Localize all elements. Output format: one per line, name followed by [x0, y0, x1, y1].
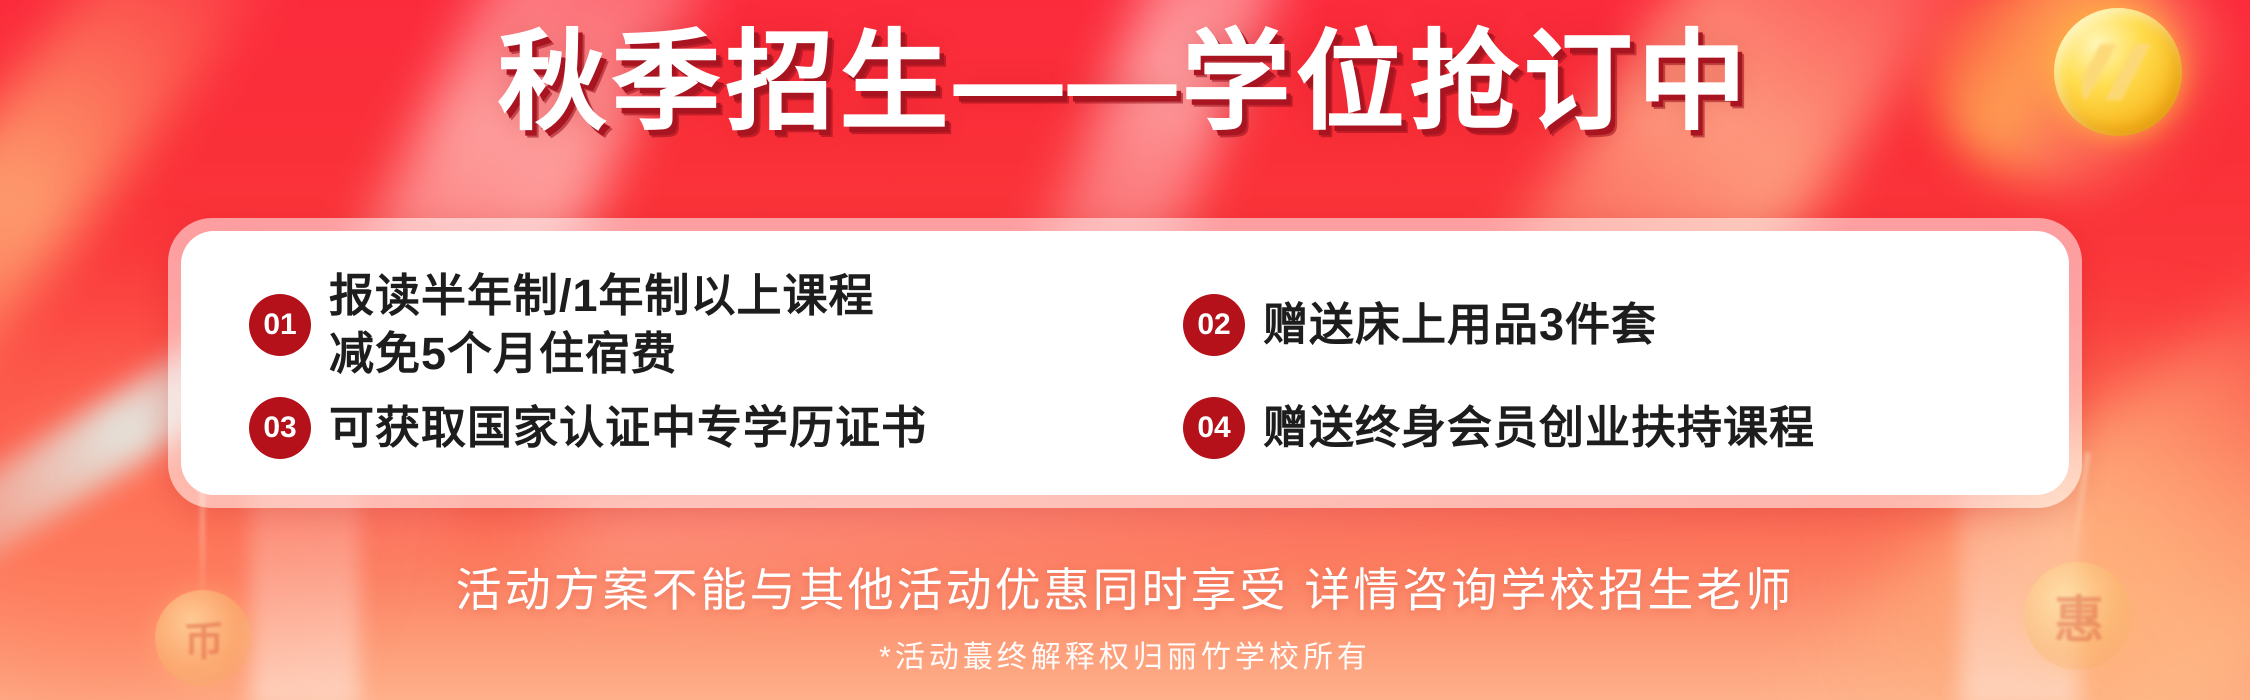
- benefit-badge-01: 01: [249, 294, 311, 356]
- benefit-item-02: 02 赠送床上用品3件套: [1125, 294, 2031, 356]
- benefits-row-bottom: 03 可获取国家认证中专学历证书 04 赠送终身会员创业扶持课程: [219, 397, 2031, 459]
- benefits-card: 01 报读半年制/1年制以上课程 减免5个月住宿费 02 赠送床上用品3件套 0…: [168, 218, 2082, 508]
- benefit-badge-02: 02: [1183, 294, 1245, 356]
- benefit-text-04: 赠送终身会员创业扶持课程: [1263, 399, 1815, 457]
- page-title: 秋季招生——学位抢订中: [0, 18, 2250, 145]
- footer-fine-print: *活动蕞终解释权归丽竹学校所有: [0, 632, 2250, 676]
- benefit-text-01: 报读半年制/1年制以上课程 减免5个月住宿费: [329, 267, 875, 382]
- benefits-row-top: 01 报读半年制/1年制以上课程 减免5个月住宿费 02 赠送床上用品3件套: [219, 267, 2031, 382]
- benefit-badge-04: 04: [1183, 397, 1245, 459]
- benefit-text-02: 赠送床上用品3件套: [1263, 296, 1657, 354]
- benefit-item-04: 04 赠送终身会员创业扶持课程: [1125, 397, 2031, 459]
- footer-note: 活动方案不能与其他活动优惠同时享受 详情咨询学校招生老师: [0, 554, 2250, 620]
- benefit-text-03: 可获取国家认证中专学历证书: [329, 399, 927, 457]
- benefit-item-01: 01 报读半年制/1年制以上课程 减免5个月住宿费: [219, 267, 1125, 382]
- promo-banner: 币 惠 秋季招生——学位抢订中 01 报读半年制/1年制以上课程 减免5个月住宿…: [0, 0, 2250, 700]
- benefit-item-03: 03 可获取国家认证中专学历证书: [219, 397, 1125, 459]
- benefit-badge-03: 03: [249, 397, 311, 459]
- benefits-card-inner: 01 报读半年制/1年制以上课程 减免5个月住宿费 02 赠送床上用品3件套 0…: [181, 231, 2069, 495]
